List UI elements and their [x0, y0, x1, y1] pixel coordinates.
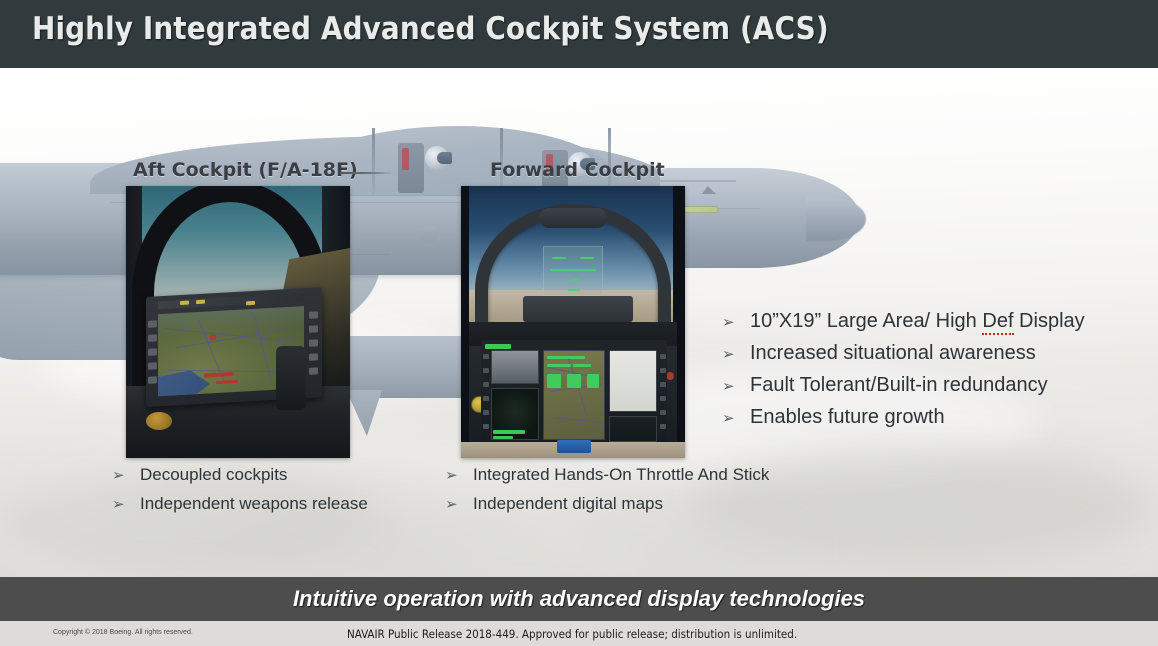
display-green-symbology: [493, 430, 525, 434]
bullet-label: Independent digital maps: [473, 494, 663, 514]
right-console-indicator: [666, 372, 674, 380]
display-bezel-button[interactable]: [148, 320, 157, 328]
map-threat-marker: [210, 335, 216, 340]
footer-tagline: Intuitive operation with advanced displa…: [293, 586, 865, 612]
bullet-item-display: ➢ 10”X19” Large Area/ High Def Display: [722, 310, 1085, 333]
helmet-visor: [437, 152, 452, 164]
bullet-arrow-icon: ➢: [112, 466, 140, 484]
nose-tip: [806, 197, 866, 241]
display-window-controls: [609, 416, 657, 442]
display-bezel-button[interactable]: [483, 368, 489, 373]
display-bezel-button[interactable]: [483, 424, 489, 429]
map-water-feature: [158, 369, 210, 396]
display-bezel-button[interactable]: [483, 410, 489, 415]
display-bezel-button[interactable]: [660, 424, 666, 429]
display-bezel-button[interactable]: [660, 410, 666, 415]
display-window-situation: [609, 350, 657, 412]
display-status-led: [196, 300, 205, 305]
footer-tagline-banner: Intuitive operation with advanced displa…: [0, 577, 1158, 621]
bullet-label: Integrated Hands-On Throttle And Stick: [473, 465, 769, 485]
bullet-text-pre: 10”X19” Large Area/ High: [750, 310, 982, 332]
bullet-arrow-icon: ➢: [722, 377, 750, 395]
forward-cockpit-label: Forward Cockpit: [490, 159, 665, 181]
map-threat-marker: [216, 380, 238, 384]
panel-line: [660, 180, 736, 182]
display-status-led: [180, 301, 189, 306]
display-bezel-button[interactable]: [309, 339, 318, 347]
display-bezel-button[interactable]: [148, 348, 157, 356]
navair-release-statement: NAVAIR Public Release 2018-449. Approved…: [347, 627, 797, 641]
bullet-label: 10”X19” Large Area/ High Def Display: [750, 310, 1085, 333]
forward-left-sidewall: [461, 186, 469, 458]
bullet-item-weapons: ➢ Independent weapons release: [112, 494, 368, 514]
display-bezel-button[interactable]: [148, 362, 157, 370]
bullet-text-post: Display: [1014, 310, 1085, 332]
display-header-tag: [485, 344, 511, 349]
aft-cockpit-photo: [126, 186, 350, 458]
display-bezel-button[interactable]: [309, 311, 318, 319]
display-bezel-button[interactable]: [483, 354, 489, 359]
page-title: Highly Integrated Advanced Cockpit Syste…: [32, 11, 829, 47]
bullet-label: Increased situational awareness: [750, 342, 1036, 365]
map-route-line: [554, 417, 602, 423]
display-bezel-button[interactable]: [309, 367, 318, 375]
aft-cockpit-label: Aft Cockpit (F/A-18F): [133, 159, 358, 181]
aft-cockpit-bullet-list: ➢ Decoupled cockpits ➢ Independent weapo…: [112, 465, 368, 523]
bullet-arrow-icon: ➢: [722, 313, 750, 331]
display-bezel-button[interactable]: [660, 368, 666, 373]
aft-control-stick: [276, 346, 306, 410]
glareshield: [523, 296, 633, 322]
misspelled-word: Def: [982, 310, 1013, 335]
bullet-arrow-icon: ➢: [445, 466, 473, 484]
display-status-led: [246, 301, 255, 306]
floor-blue-placard: [557, 440, 591, 453]
feature-bullet-list: ➢ 10”X19” Large Area/ High Def Display ➢…: [722, 310, 1085, 438]
hud-combiner: [543, 246, 603, 296]
hud-symbology: [580, 257, 594, 259]
bullet-arrow-icon: ➢: [112, 495, 140, 513]
bullet-label: Decoupled cockpits: [140, 465, 287, 485]
canopy-frame: [372, 128, 375, 194]
display-bezel-button[interactable]: [483, 396, 489, 401]
aft-cockpit-leader-line: [339, 172, 391, 174]
display-green-symbology: [547, 356, 585, 359]
display-green-symbology: [573, 364, 591, 367]
bullet-arrow-icon: ➢: [722, 409, 750, 427]
map-route-line: [254, 313, 273, 384]
slide-canvas: Highly Integrated Advanced Cockpit Syste…: [0, 0, 1158, 646]
display-green-symbology: [547, 374, 561, 388]
display-green-symbology: [547, 364, 571, 367]
bullet-item-hotas: ➢ Integrated Hands-On Throttle And Stick: [445, 465, 769, 485]
hud-symbology: [552, 257, 566, 259]
hud-symbology: [568, 289, 580, 291]
display-bezel-button[interactable]: [660, 354, 666, 359]
bullet-label: Fault Tolerant/Built-in redundancy: [750, 374, 1048, 397]
map-route-line: [164, 328, 293, 342]
bullet-item-decoupled: ➢ Decoupled cockpits: [112, 465, 368, 485]
display-bezel-button[interactable]: [309, 325, 318, 333]
display-bezel-button[interactable]: [309, 353, 318, 361]
forward-cockpit-bullet-list: ➢ Integrated Hands-On Throttle And Stick…: [445, 465, 769, 523]
display-green-symbology: [567, 374, 581, 388]
display-bezel-button[interactable]: [660, 396, 666, 401]
display-green-symbology: [587, 374, 599, 388]
forward-cockpit-photo: [461, 186, 685, 458]
bullet-arrow-icon: ➢: [445, 495, 473, 513]
copyright-notice: Copyright © 2018 Boeing. All rights rese…: [53, 629, 193, 636]
bullet-item-awareness: ➢ Increased situational awareness: [722, 342, 1085, 365]
bullet-arrow-icon: ➢: [722, 345, 750, 363]
canopy-top-fairing: [539, 208, 607, 228]
map-threat-marker: [204, 372, 234, 378]
display-green-symbology: [493, 436, 513, 439]
display-bezel-button[interactable]: [483, 382, 489, 387]
hud-symbology: [570, 279, 579, 281]
display-bezel-button[interactable]: [148, 334, 157, 342]
display-bezel-button[interactable]: [148, 376, 157, 384]
bullet-label: Enables future growth: [750, 406, 945, 429]
seat-headrest: [402, 148, 409, 170]
ventral-strake: [346, 390, 382, 436]
display-bezel-button[interactable]: [660, 382, 666, 387]
slide-title-bar: Highly Integrated Advanced Cockpit Syste…: [0, 0, 1158, 68]
hud-symbology: [550, 269, 596, 271]
bullet-item-redundancy: ➢ Fault Tolerant/Built-in redundancy: [722, 374, 1085, 397]
bullet-item-digital-maps: ➢ Independent digital maps: [445, 494, 769, 514]
bullet-label: Independent weapons release: [140, 494, 368, 514]
bullet-item-growth: ➢ Enables future growth: [722, 406, 1085, 429]
display-window-flir: [491, 350, 539, 384]
aft-console-knob: [146, 412, 172, 430]
